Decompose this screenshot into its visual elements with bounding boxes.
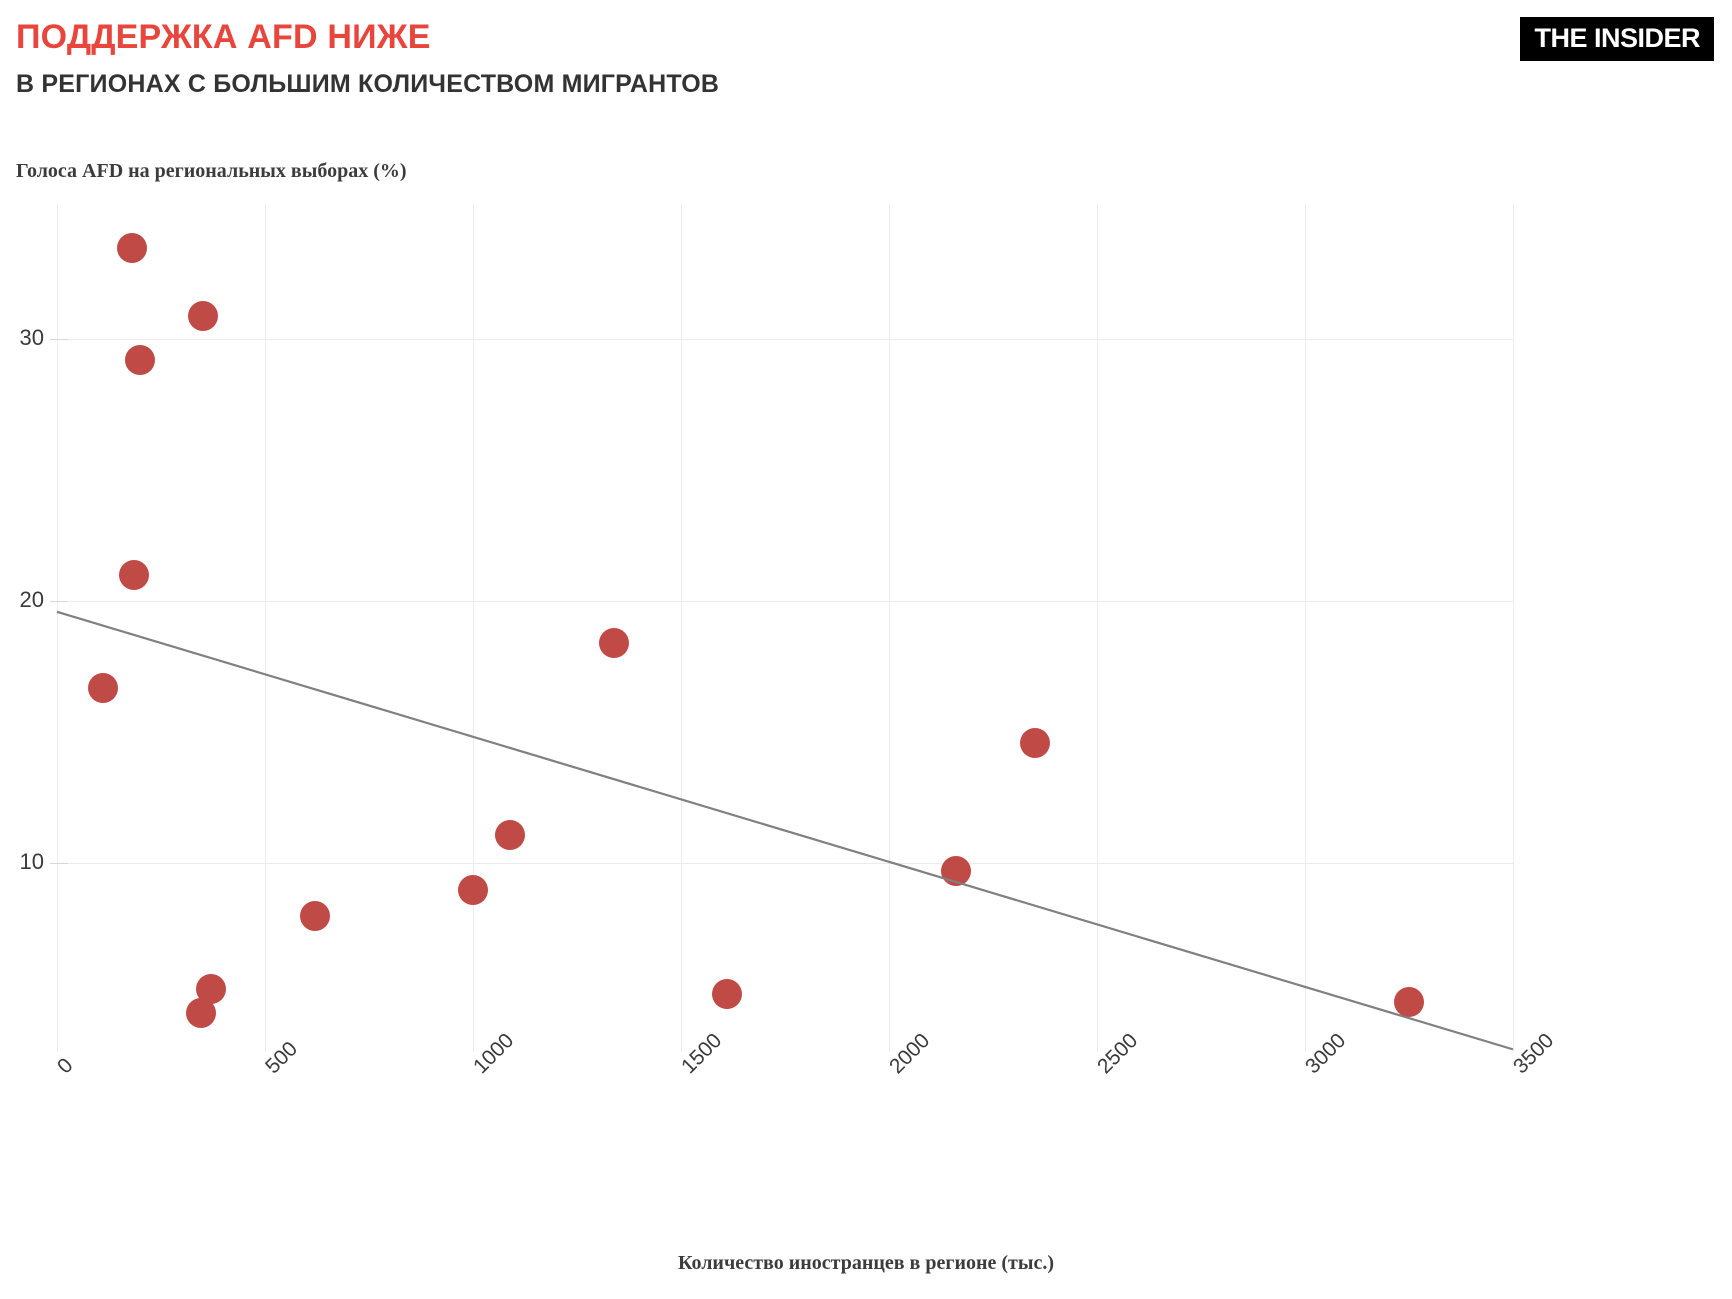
x-gridline [889, 203, 890, 1052]
plot-area [57, 203, 1513, 1052]
scatter-point[interactable] [300, 901, 330, 931]
y-axis-tick-mark [50, 339, 68, 340]
y-axis-tick-label: 10 [0, 849, 44, 875]
x-gridline [1097, 203, 1098, 1052]
scatter-point[interactable] [941, 856, 971, 886]
y-axis-tick-label: 30 [0, 325, 44, 351]
x-gridline [265, 203, 266, 1052]
y-gridline [57, 863, 1513, 864]
y-axis-tick-label: 20 [0, 587, 44, 613]
scatter-point[interactable] [712, 979, 742, 1009]
y-axis-tick-mark [50, 601, 68, 602]
x-axis-tick-label: 3500 [1509, 1029, 1559, 1079]
x-gridline [57, 203, 58, 1052]
x-gridline [1513, 203, 1514, 1052]
y-gridline [57, 601, 1513, 602]
scatter-point[interactable] [119, 560, 149, 590]
x-gridline [1305, 203, 1306, 1052]
scatter-point[interactable] [125, 345, 155, 375]
x-gridline [473, 203, 474, 1052]
x-axis-label: Количество иностранцев в регионе (тыс.) [0, 1252, 1732, 1275]
scatter-point[interactable] [599, 628, 629, 658]
scatter-point[interactable] [88, 673, 118, 703]
y-gridline [57, 339, 1513, 340]
scatter-point[interactable] [1020, 728, 1050, 758]
x-axis-tick-label: 0 [53, 1054, 78, 1079]
scatter-point[interactable] [495, 820, 525, 850]
scatter-point[interactable] [1394, 987, 1424, 1017]
scatter-point[interactable] [117, 233, 147, 263]
y-axis-tick-mark [50, 863, 68, 864]
x-gridline [681, 203, 682, 1052]
scatter-point[interactable] [188, 301, 218, 331]
y-axis-label: Голоса AFD на региональных выборах (%) [16, 160, 407, 183]
scatter-point[interactable] [186, 998, 216, 1028]
scatter-chart: Голоса AFD на региональных выборах (%) К… [0, 0, 1732, 1299]
scatter-point[interactable] [458, 875, 488, 905]
